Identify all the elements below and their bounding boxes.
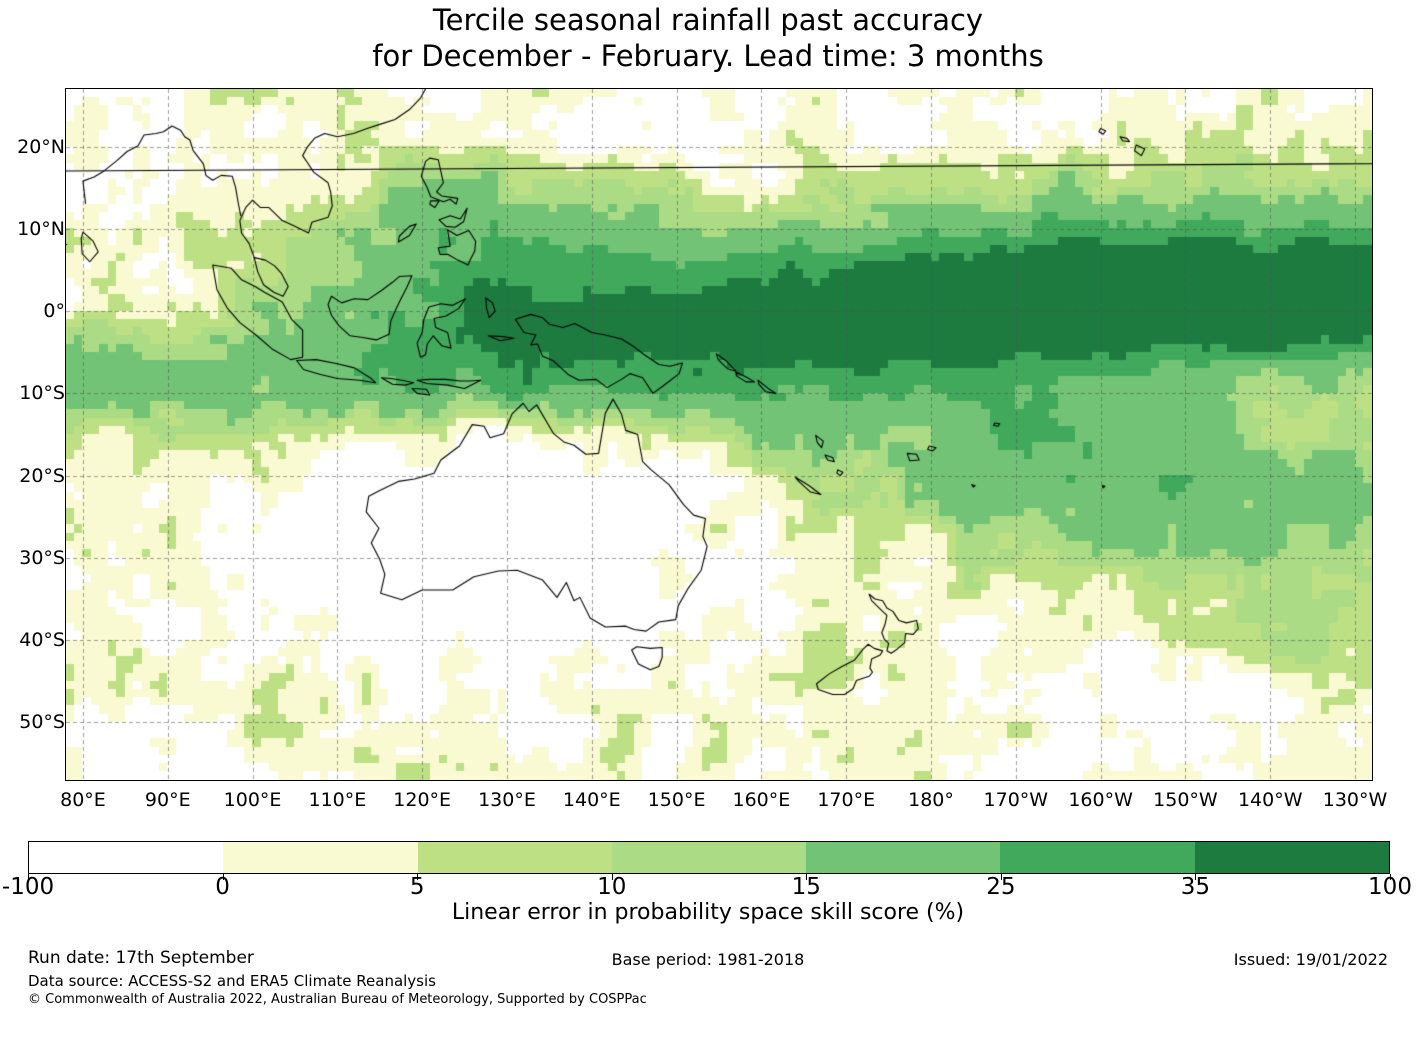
latitude-tick-label: 20°N [17, 136, 65, 158]
colorbar-tick-label: 35 [1181, 874, 1210, 900]
footer: Run date: 17th September Base period: 19… [0, 948, 1416, 1008]
longitude-tick-label: 180° [908, 789, 954, 811]
longitude-tick-label: 150°E [648, 789, 706, 811]
latitude-tick-label: 30°S [19, 547, 65, 569]
colorbar [28, 841, 1390, 874]
skill-score-heatmap [66, 89, 1372, 780]
colorbar-tick-label: 10 [597, 874, 626, 900]
colorbar-tick-label: -100 [2, 874, 54, 900]
colorbar-tick-label: 25 [986, 874, 1015, 900]
longitude-tick-label: 90°E [145, 789, 191, 811]
colorbar-tick-label: 15 [792, 874, 821, 900]
latitude-tick-label: 10°N [17, 218, 65, 240]
footer-base-period: Base period: 1981-2018 [0, 950, 1416, 969]
footer-issued-date: Issued: 19/01/2022 [1234, 950, 1388, 969]
colorbar-tick-label: 0 [215, 874, 230, 900]
longitude-tick-label: 120°E [393, 789, 451, 811]
colorbar-segment [223, 842, 417, 873]
longitude-tick-label: 170°W [984, 789, 1049, 811]
colorbar-segment [806, 842, 1000, 873]
footer-copyright: © Commonwealth of Australia 2022, Austra… [28, 992, 647, 1007]
colorbar-segments [28, 841, 1390, 874]
latitude-tick-label: 0° [43, 300, 65, 322]
latitude-tick-label: 20°S [19, 465, 65, 487]
longitude-tick-label: 130°W [1323, 789, 1388, 811]
longitude-tick-label: 100°E [224, 789, 282, 811]
chart-title-line-1: Tercile seasonal rainfall past accuracy [0, 0, 1416, 38]
chart-title-line-2: for December - February. Lead time: 3 mo… [0, 38, 1416, 74]
latitude-tick-label: 40°S [19, 629, 65, 651]
longitude-tick-label: 140°E [563, 789, 621, 811]
latitude-tick-label: 10°S [19, 382, 65, 404]
longitude-tick-label: 130°E [478, 789, 536, 811]
latitude-tick-label: 50°S [19, 711, 65, 733]
footer-data-source: Data source: ACCESS-S2 and ERA5 Climate … [28, 972, 436, 990]
colorbar-segment [1195, 842, 1389, 873]
longitude-tick-label: 110°E [308, 789, 366, 811]
map-plot-area [65, 88, 1373, 781]
chart-title: Tercile seasonal rainfall past accuracy … [0, 0, 1416, 74]
longitude-tick-label: 150°W [1153, 789, 1218, 811]
longitude-tick-label: 140°W [1238, 789, 1303, 811]
colorbar-axis-label: Linear error in probability space skill … [0, 900, 1416, 925]
colorbar-tick-label: 5 [410, 874, 425, 900]
colorbar-tick-label: 100 [1368, 874, 1412, 900]
colorbar-segment [1000, 842, 1194, 873]
colorbar-segment [418, 842, 612, 873]
colorbar-segment [29, 842, 223, 873]
longitude-tick-label: 80°E [60, 789, 106, 811]
longitude-tick-label: 170°E [817, 789, 875, 811]
longitude-tick-label: 160°E [733, 789, 791, 811]
longitude-tick-label: 160°W [1068, 789, 1133, 811]
colorbar-segment [612, 842, 806, 873]
